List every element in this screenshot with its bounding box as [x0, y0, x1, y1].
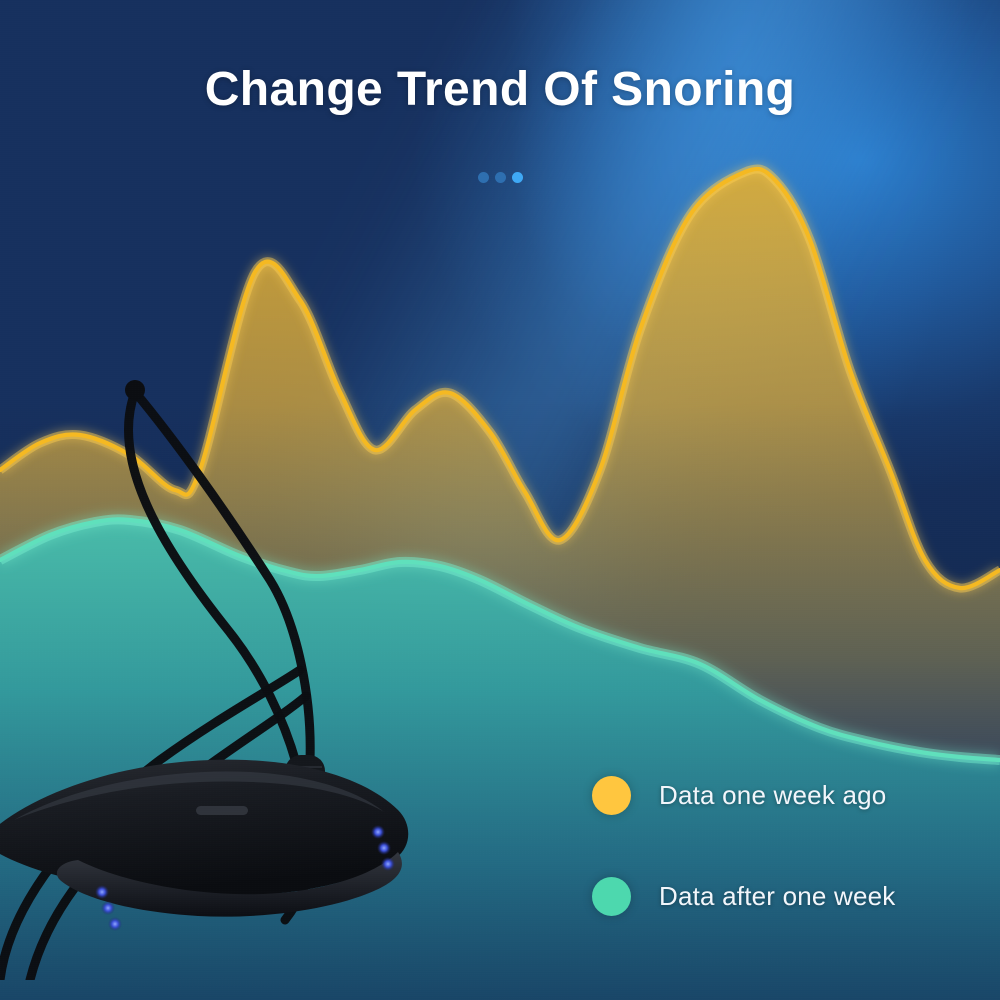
legend-item-week-ago[interactable]: Data one week ago — [592, 776, 896, 815]
legend-label-after-week: Data after one week — [659, 881, 896, 912]
device-body — [0, 760, 408, 917]
carousel-dots[interactable] — [0, 172, 1000, 183]
carousel-dot-1[interactable] — [478, 172, 489, 183]
carousel-dot-2[interactable] — [495, 172, 506, 183]
legend-swatch-yellow-icon — [592, 776, 631, 815]
carousel-dot-3[interactable] — [512, 172, 523, 183]
page-title: Change Trend Of Snoring — [0, 64, 1000, 117]
legend-swatch-teal-icon — [592, 877, 631, 916]
snoring-trend-infographic: Change Trend Of Snoring Data one week ag… — [0, 0, 1000, 1000]
product-photo-anti-snoring-device — [0, 340, 480, 980]
legend-item-after-week[interactable]: Data after one week — [592, 877, 896, 916]
legend-label-week-ago: Data one week ago — [659, 780, 886, 811]
chart-legend: Data one week ago Data after one week — [592, 776, 896, 916]
